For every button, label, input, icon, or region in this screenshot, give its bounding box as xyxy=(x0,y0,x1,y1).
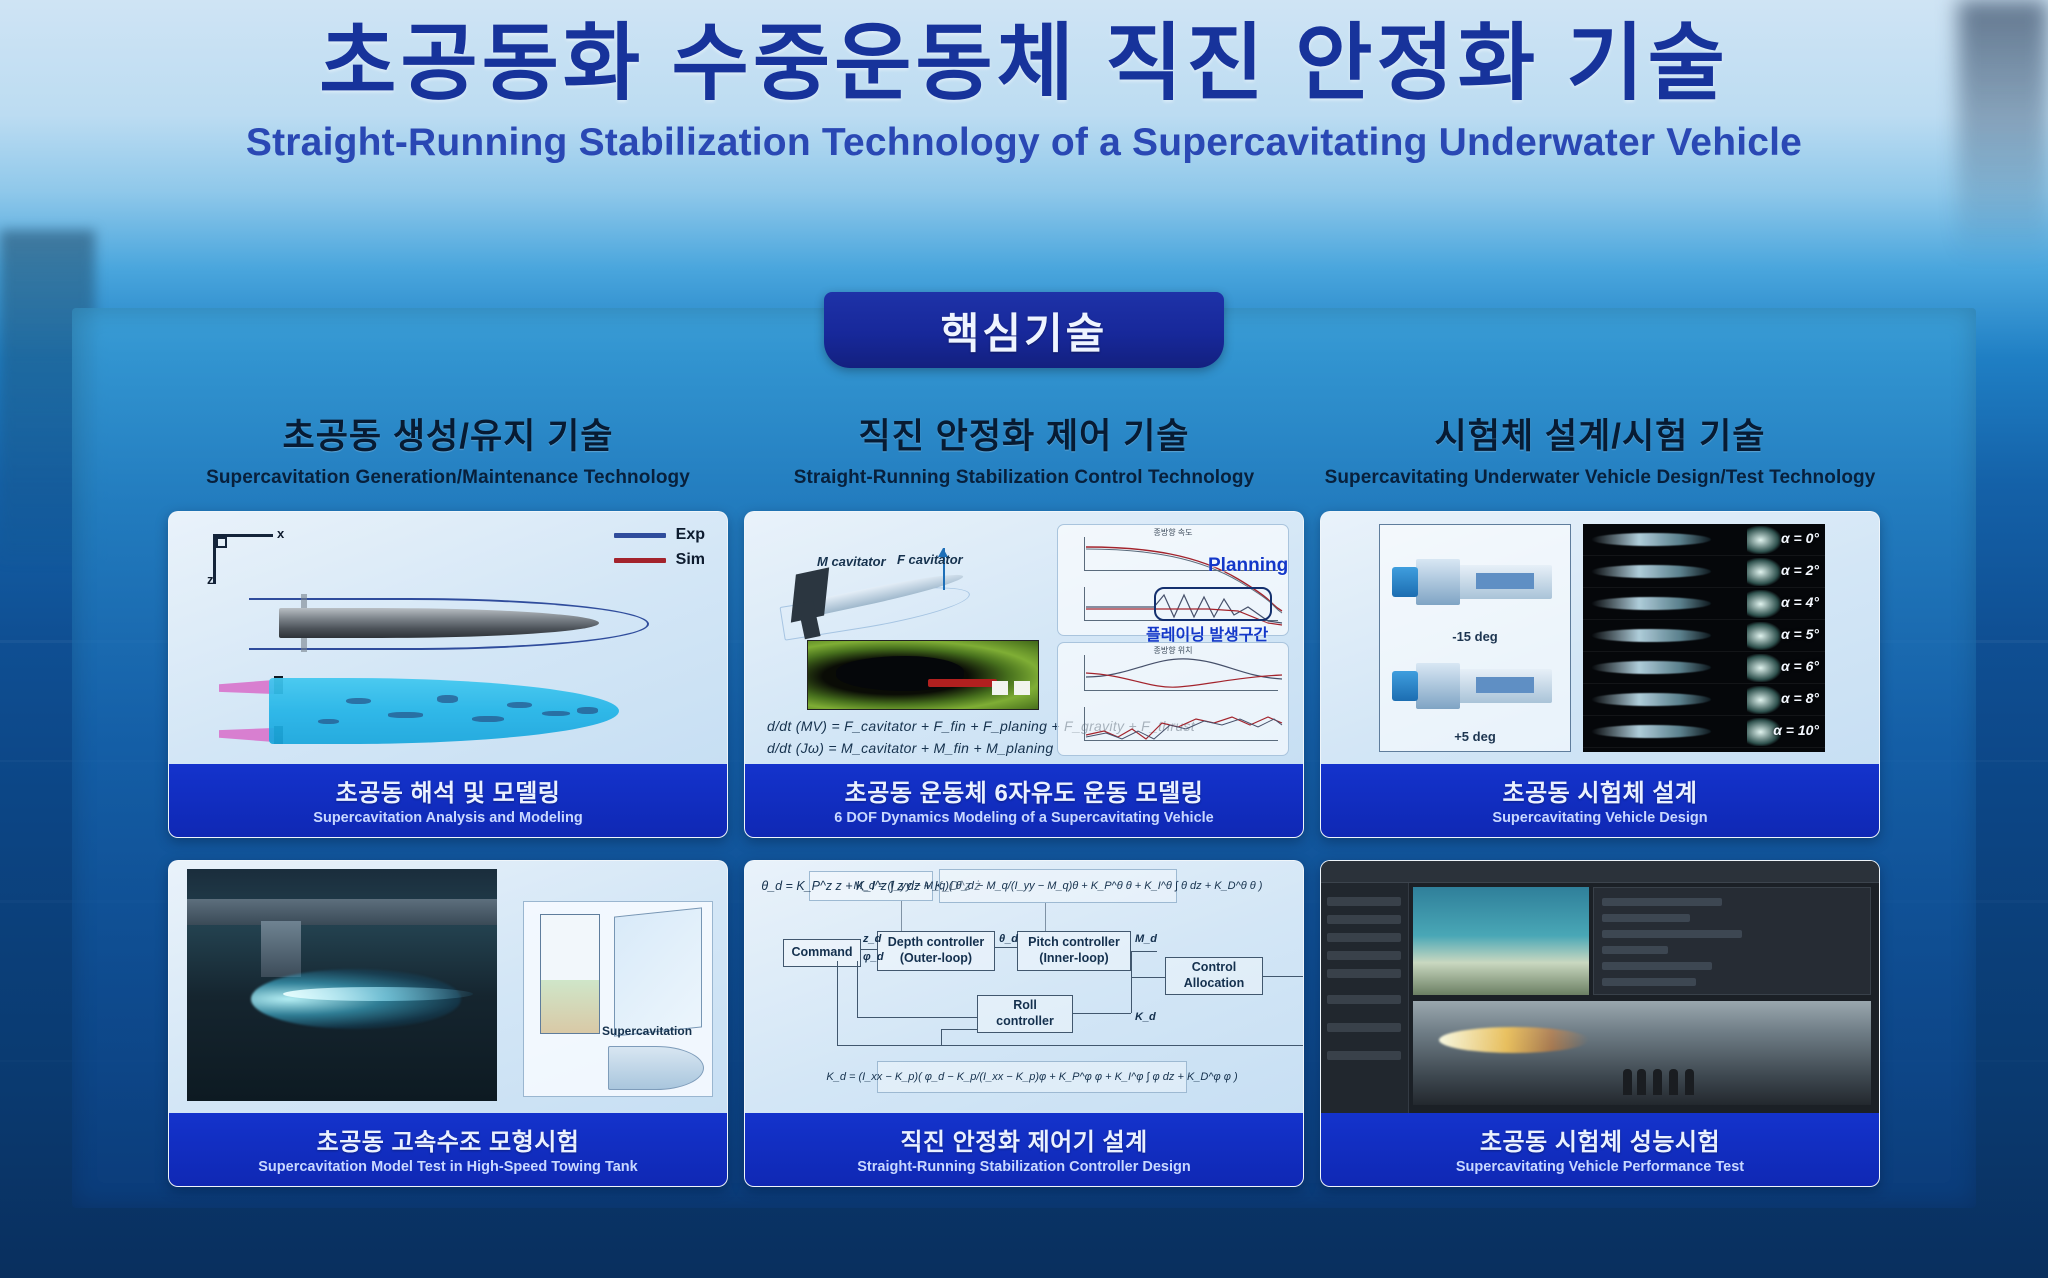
card-caption-english: Supercavitating Vehicle Design xyxy=(1327,810,1873,826)
core-technology-panel: 핵심기술 초공동 생성/유지 기술 Supercavitation Genera… xyxy=(72,308,1976,1208)
signal-label-zd: z_d xyxy=(863,933,881,945)
supercavitation-annotation-label: Supercavitation xyxy=(602,1024,692,1038)
card-caption-korean: 초공동 고속수조 모형시험 xyxy=(175,1122,721,1157)
signal-label-kd: K_d xyxy=(1135,1011,1156,1023)
block-label-depth-controller: Depth controller xyxy=(888,935,985,951)
card-caption: 초공동 운동체 6자유도 운동 모델링 6 DOF Dynamics Model… xyxy=(745,764,1303,837)
alpha-label-8: α = 8° xyxy=(1781,690,1819,706)
poster-title-block: 초공동화 수중운동체 직진 안정화 기술 Straight-Running St… xyxy=(0,18,2048,165)
card-figure-towing-tank-test: Supercavitation xyxy=(169,861,727,1113)
simulation-plot-group: 종방향 속도 Planning xyxy=(1057,524,1289,756)
column-title-korean: 직진 안정화 제어 기술 xyxy=(744,408,1304,459)
card-caption: 초공동 고속수조 모형시험 Supercavitation Model Test… xyxy=(169,1113,727,1186)
card-figure-supercavitation-analysis: x z Exp Sim xyxy=(169,512,727,764)
block-label-pitch-controller: Pitch controller xyxy=(1028,935,1120,951)
coordinate-axes-icon: x z xyxy=(207,526,277,584)
legend-label-exp: Exp xyxy=(676,526,705,544)
software-camera-preview xyxy=(1413,887,1589,995)
force-label-m-cavitator: M cavitator xyxy=(817,554,886,569)
alpha-label-5: α = 5° xyxy=(1781,626,1819,642)
block-depth-controller: Depth controller (Outer-loop) xyxy=(877,931,995,971)
towing-tank-schematic: Supercavitation xyxy=(523,901,713,1097)
experiment-vehicle-illustration xyxy=(249,594,649,652)
block-pitch-controller: Pitch controller (Inner-loop) xyxy=(1017,931,1131,971)
card-supercavitation-analysis[interactable]: x z Exp Sim xyxy=(168,511,728,838)
card-caption: 초공동 시험체 성능시험 Supercavitating Vehicle Per… xyxy=(1321,1113,1879,1186)
block-label-roll: Roll xyxy=(1013,998,1037,1014)
software-test-footage xyxy=(1413,1001,1871,1105)
poster-title-english: Straight-Running Stabilization Technolog… xyxy=(0,121,2048,165)
equation-roll-controller: K_d = (I_xx − K_p)( φ_d − K_p/(I_xx − K_… xyxy=(877,1061,1187,1093)
block-roll-controller: Roll controller xyxy=(977,995,1073,1033)
legend-entry-sim: Sim xyxy=(614,551,705,569)
figure-legend: Exp Sim xyxy=(614,526,705,576)
axis-label-z: z xyxy=(207,572,214,587)
cfd-cavity-illustration xyxy=(219,670,649,752)
signal-label-thetad: θ_d xyxy=(999,933,1018,945)
block-label-allocation: Allocation xyxy=(1184,976,1244,992)
card-controller-design[interactable]: θ_d = K_P^z z + K_I^z ∫ z dz + K_D^z ż M… xyxy=(744,860,1304,1187)
card-6dof-dynamics-modeling[interactable]: M cavitator F cavitator d/dt (MV) = F_ca… xyxy=(744,511,1304,838)
signal-label-phid: φ_d xyxy=(863,951,884,963)
alpha-label-6: α = 6° xyxy=(1781,658,1819,674)
alpha-label-10: α = 10° xyxy=(1773,722,1819,738)
card-caption-korean: 직진 안정화 제어기 설계 xyxy=(751,1122,1297,1157)
card-caption: 초공동 해석 및 모델링 Supercavitation Analysis an… xyxy=(169,764,727,837)
axis-label-x: x xyxy=(277,526,284,541)
angle-of-attack-photo-strip: α = 0° α = 2° α = 4° α = 5° α = 6° α = 8… xyxy=(1583,524,1825,752)
technology-columns: 초공동 생성/유지 기술 Supercavitation Generation/… xyxy=(72,408,1976,1187)
alpha-label-4: α = 4° xyxy=(1781,594,1819,610)
column-stabilization-control: 직진 안정화 제어 기술 Straight-Running Stabilizat… xyxy=(744,408,1304,1187)
card-caption: 직진 안정화 제어기 설계 Straight-Running Stabiliza… xyxy=(745,1113,1303,1186)
card-caption-english: Straight-Running Stabilization Controlle… xyxy=(751,1159,1297,1175)
core-technology-badge-label: 핵심기술 xyxy=(941,300,1108,361)
poster-stage: 초공동화 수중운동체 직진 안정화 기술 Straight-Running St… xyxy=(0,0,2048,1278)
test-software-screenshot xyxy=(1321,861,1879,1113)
card-caption-korean: 초공동 시험체 설계 xyxy=(1327,773,1873,808)
alpha-label-0: α = 0° xyxy=(1781,530,1819,546)
block-control-allocation: Control Allocation xyxy=(1165,957,1263,995)
plot-panel-upper: 종방향 속도 Planning xyxy=(1057,524,1289,636)
column-title-korean: 시험체 설계/시험 기술 xyxy=(1320,408,1880,459)
software-sidebar xyxy=(1321,883,1409,1113)
alpha-label-2: α = 2° xyxy=(1781,562,1819,578)
plot-panel-lower: 종방향 위치 xyxy=(1057,642,1289,756)
column-vehicle-design-test: 시험체 설계/시험 기술 Supercavitating Underwater … xyxy=(1320,408,1880,1187)
card-figure-6dof-dynamics: M cavitator F cavitator d/dt (MV) = F_ca… xyxy=(745,512,1303,764)
column-supercavitation-generation: 초공동 생성/유지 기술 Supercavitation Generation/… xyxy=(168,408,728,1187)
column-title-english: Supercavitation Generation/Maintenance T… xyxy=(168,467,728,489)
card-vehicle-design[interactable]: -15 deg +5 deg α = 0° α = 2° xyxy=(1320,511,1880,838)
equation-pitch-controller: M_d = (I_yy − M_q)( θ_d − M_q/(I_yy − M_… xyxy=(939,869,1177,903)
card-caption-english: Supercavitation Model Test in High-Speed… xyxy=(175,1159,721,1175)
legend-label-sim: Sim xyxy=(676,551,705,569)
card-figure-vehicle-design: -15 deg +5 deg α = 0° α = 2° xyxy=(1321,512,1879,764)
core-technology-badge: 핵심기술 xyxy=(824,292,1224,368)
card-caption-korean: 초공동 운동체 6자유도 운동 모델링 xyxy=(751,773,1297,808)
block-command: Command xyxy=(783,939,861,967)
legend-swatch-sim xyxy=(614,558,666,563)
poster-title-korean: 초공동화 수중운동체 직진 안정화 기술 xyxy=(0,18,2048,109)
block-label-pitch-controller-loop: (Inner-loop) xyxy=(1039,951,1108,967)
legend-entry-exp: Exp xyxy=(614,526,705,544)
planning-label: Planning xyxy=(1208,555,1288,577)
card-caption-korean: 초공동 시험체 성능시험 xyxy=(1327,1122,1873,1157)
cad-angle-label-plus5: +5 deg xyxy=(1380,729,1570,744)
card-caption-english: 6 DOF Dynamics Modeling of a Supercavita… xyxy=(751,810,1297,826)
card-caption: 초공동 시험체 설계 Supercavitating Vehicle Desig… xyxy=(1321,764,1879,837)
signal-label-md: M_d xyxy=(1135,933,1157,945)
card-caption-english: Supercavitating Vehicle Performance Test xyxy=(1327,1159,1873,1175)
column-title-english: Straight-Running Stabilization Control T… xyxy=(744,467,1304,489)
cavity-experiment-photo xyxy=(807,640,1039,710)
dynamics-equation-moment: d/dt (Jω) = M_cavitator + M_fin + M_plan… xyxy=(767,740,1053,756)
card-caption-english: Supercavitation Analysis and Modeling xyxy=(175,810,721,826)
software-titlebar xyxy=(1321,861,1879,883)
cad-angle-label-minus15: -15 deg xyxy=(1380,629,1570,644)
planning-region-box xyxy=(1154,587,1272,621)
card-figure-performance-test xyxy=(1321,861,1879,1113)
cad-model-panel: -15 deg +5 deg xyxy=(1379,524,1571,752)
software-data-panel xyxy=(1593,887,1871,995)
block-label-control: Control xyxy=(1192,960,1236,976)
towing-tank-photo xyxy=(187,869,497,1101)
block-label-roll-controller: controller xyxy=(996,1014,1054,1030)
legend-swatch-exp xyxy=(614,533,666,538)
column-title-korean: 초공동 생성/유지 기술 xyxy=(168,408,728,459)
card-caption-korean: 초공동 해석 및 모델링 xyxy=(175,773,721,808)
card-performance-test[interactable]: 초공동 시험체 성능시험 Supercavitating Vehicle Per… xyxy=(1320,860,1880,1187)
force-label-f-cavitator: F cavitator xyxy=(897,552,963,567)
card-towing-tank-test[interactable]: Supercavitation 초공동 고속수조 모형시험 Supercavit… xyxy=(168,860,728,1187)
column-title-english: Supercavitating Underwater Vehicle Desig… xyxy=(1320,467,1880,489)
block-label-depth-controller-loop: (Outer-loop) xyxy=(900,951,972,967)
card-figure-controller-block-diagram: θ_d = K_P^z z + K_I^z ∫ z dz + K_D^z ż M… xyxy=(745,861,1303,1113)
block-label-command: Command xyxy=(791,945,852,961)
